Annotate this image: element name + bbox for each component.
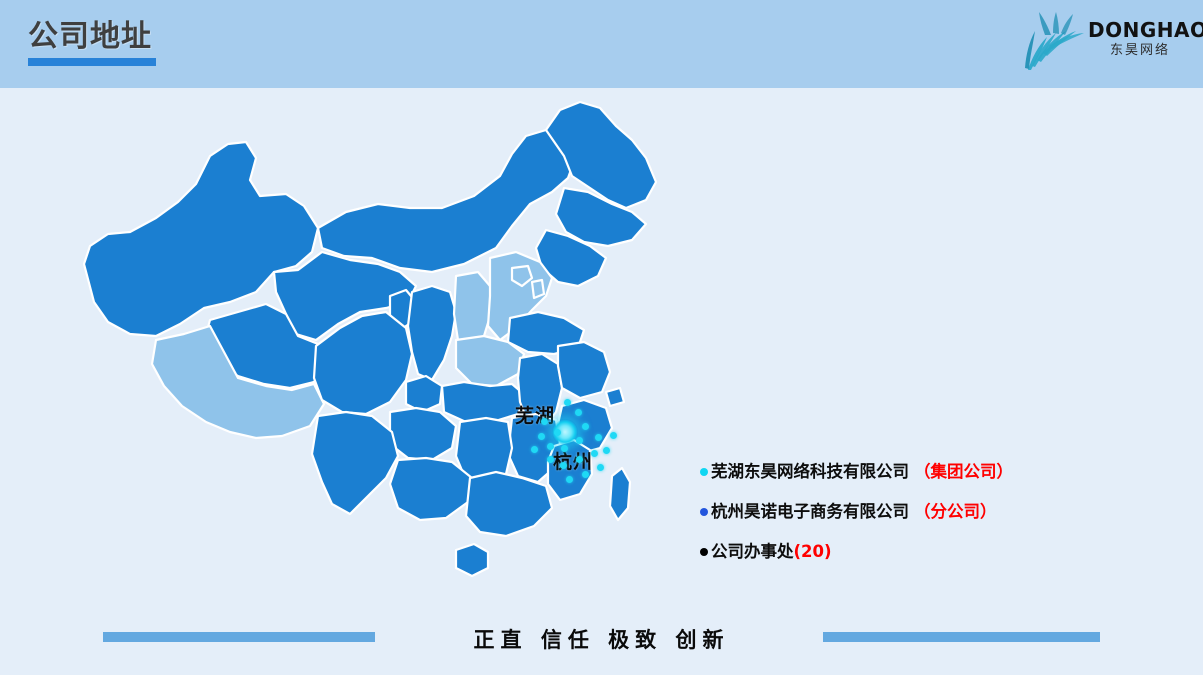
- legend-tag: (20): [794, 542, 832, 562]
- map-office-dot[interactable]: [582, 471, 589, 478]
- map-office-dot[interactable]: [538, 433, 545, 440]
- footer-bar-right: [823, 632, 1100, 642]
- province-taiwan: [610, 468, 630, 520]
- legend-tag: （集团公司）: [914, 462, 1013, 482]
- map-office-dot[interactable]: [591, 450, 598, 457]
- province-hubei: [442, 382, 526, 422]
- province-shaanxi: [408, 286, 456, 380]
- legend-item: 杭州昊诺电子商务有限公司 （分公司）: [700, 502, 1120, 522]
- legend-bullet-icon: [700, 468, 708, 476]
- map-office-dot[interactable]: [582, 423, 589, 430]
- map-label-hangzhou: 杭州: [553, 447, 593, 474]
- map-office-dot[interactable]: [547, 456, 554, 463]
- china-map-svg: [60, 96, 720, 606]
- legend: 芜湖东昊网络科技有限公司 （集团公司） 杭州昊诺电子商务有限公司 （分公司） 公…: [700, 462, 1120, 582]
- legend-item: 芜湖东昊网络科技有限公司 （集团公司）: [700, 462, 1120, 482]
- city-shanghai: [606, 388, 624, 406]
- province-hainan: [456, 544, 488, 576]
- logo-text: DONGHAO 东昊网络: [1088, 19, 1192, 60]
- map-office-dot[interactable]: [561, 445, 568, 452]
- map-office-dot[interactable]: [566, 476, 573, 483]
- company-logo: DONGHAO 东昊网络: [1016, 8, 1191, 76]
- city-tianjin: [532, 280, 544, 298]
- legend-item: 公司办事处 (20): [700, 542, 1120, 562]
- page-header: 公司地址 DONGHAO: [0, 0, 1203, 88]
- map-office-dot[interactable]: [531, 446, 538, 453]
- china-map: 芜湖 杭州: [60, 96, 720, 606]
- map-office-dot[interactable]: [576, 456, 583, 463]
- map-office-dot[interactable]: [554, 429, 561, 436]
- map-label-wuhu: 芜湖: [515, 401, 555, 428]
- map-office-dot[interactable]: [541, 418, 548, 425]
- map-office-dot[interactable]: [547, 443, 554, 450]
- legend-label: 公司办事处: [711, 542, 794, 562]
- title-wrap: 公司地址: [28, 19, 156, 66]
- province-yunnan: [312, 412, 398, 514]
- map-office-dot[interactable]: [597, 464, 604, 471]
- map-office-dot[interactable]: [560, 462, 567, 469]
- legend-bullet-icon: [700, 508, 708, 516]
- legend-bullet-icon: [700, 548, 708, 556]
- legend-label: 芜湖东昊网络科技有限公司: [711, 462, 909, 482]
- map-office-dot[interactable]: [564, 399, 571, 406]
- map-office-dot[interactable]: [595, 434, 602, 441]
- province-guangxi: [390, 458, 472, 520]
- legend-tag: （分公司）: [914, 502, 997, 522]
- legend-label: 杭州昊诺电子商务有限公司: [711, 502, 909, 522]
- title-underline: [28, 58, 156, 66]
- map-office-dot[interactable]: [575, 409, 582, 416]
- map-office-dot[interactable]: [576, 437, 583, 444]
- province-guizhou: [390, 408, 456, 460]
- logo-subtitle: 东昊网络: [1088, 42, 1192, 60]
- map-office-dot[interactable]: [610, 432, 617, 439]
- feather-fan-icon: [1016, 10, 1088, 72]
- province-chongqing: [406, 376, 442, 412]
- map-office-dot[interactable]: [603, 447, 610, 454]
- province-jiangsu: [558, 342, 610, 398]
- page-title: 公司地址: [28, 19, 156, 55]
- logo-name: DONGHAO: [1088, 19, 1192, 41]
